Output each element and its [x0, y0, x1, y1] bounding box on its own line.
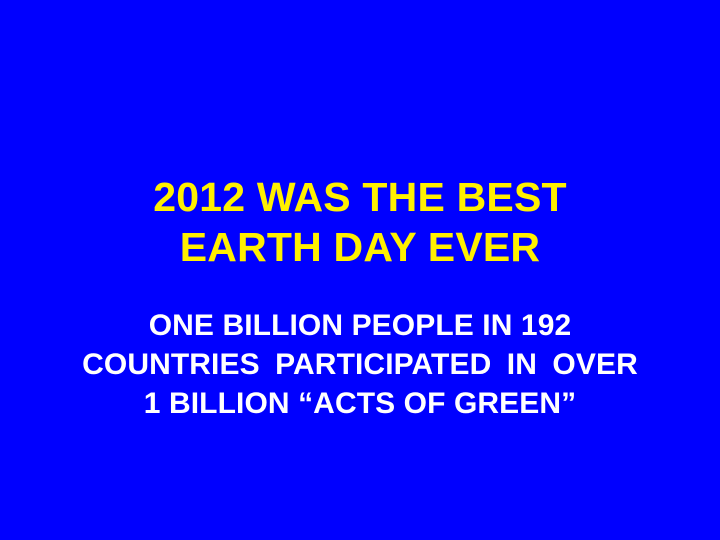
subtitle-line-2: COUNTRIES PARTICIPATED IN OVER [0, 345, 720, 384]
title-line-1: 2012 WAS THE BEST [0, 172, 720, 222]
slide-title: 2012 WAS THE BEST EARTH DAY EVER [0, 172, 720, 272]
subtitle-line-1: ONE BILLION PEOPLE IN 192 [0, 306, 720, 345]
presentation-slide: 2012 WAS THE BEST EARTH DAY EVER ONE BIL… [0, 0, 720, 540]
subtitle-line-3: 1 BILLION “ACTS OF GREEN” [0, 384, 720, 423]
slide-subtitle: ONE BILLION PEOPLE IN 192 COUNTRIES PART… [0, 306, 720, 423]
title-line-2: EARTH DAY EVER [0, 222, 720, 272]
